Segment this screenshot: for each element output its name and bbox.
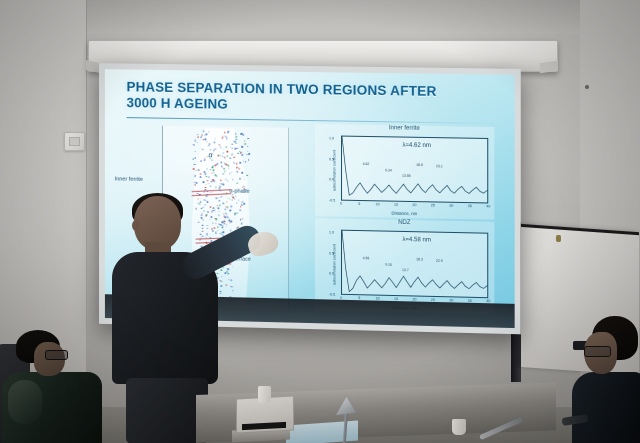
x-tick: 0 [340, 202, 342, 206]
slide-title: PHASE SEPARATION IN TWO REGIONS AFTER 30… [127, 79, 456, 116]
x-tick: 5 [358, 202, 360, 206]
plot-area: λ=4.58 nm [341, 230, 488, 299]
jacket-highlight [8, 380, 42, 424]
chart-inner-ferrite: Inner ferrite λ=4.62 nm autocorrelation … [315, 124, 494, 220]
title-divider [127, 117, 497, 124]
y-tick: -0.5 [329, 292, 335, 296]
chart-title: NDZ [315, 218, 494, 228]
alpha-region-label: α [208, 152, 212, 159]
screw-icon [585, 85, 589, 89]
attendee-right-jacket [572, 372, 640, 443]
y-tick: -0.5 [329, 198, 335, 202]
peak-annotation: 4.62 [363, 162, 370, 166]
x-tick: 15 [394, 203, 398, 207]
conference-room-photo: PHASE SEPARATION IN TWO REGIONS AFTER 30… [0, 0, 640, 443]
peak-annotation: 18.3 [416, 257, 423, 261]
y-tick: 1.0 [329, 230, 334, 234]
peak-annotation: 18.5 [416, 163, 423, 167]
light-switch-icon[interactable] [64, 132, 85, 151]
glasses-icon [45, 350, 68, 360]
y-tick: 0.5 [329, 251, 334, 255]
label-inner-ferrite: Inner ferrite [115, 176, 150, 183]
x-tick: 20 [412, 203, 416, 207]
attendee-left [0, 326, 110, 443]
x-tick: 10 [376, 202, 380, 206]
peak-annotation: 4.58 [363, 256, 370, 260]
paper-cup-secondary [452, 419, 466, 435]
y-tick: 0.0 [329, 272, 334, 276]
ceiling [0, 0, 640, 34]
attendee-right [570, 316, 640, 443]
peak-annotation: 13.86 [402, 174, 411, 178]
y-tick: 0.5 [329, 157, 334, 161]
y-tick: 1.0 [329, 136, 334, 140]
glasses-icon [584, 346, 611, 357]
peak-annotation: 13.7 [402, 268, 409, 272]
y-tick: 0.0 [329, 178, 334, 182]
paper-cup [258, 386, 271, 403]
chart-line-series [342, 231, 487, 297]
documents [286, 420, 358, 443]
peak-annotation: 9.16 [385, 263, 392, 267]
peak-annotation: 23.1 [436, 164, 443, 168]
x-tick: 35 [468, 204, 472, 208]
plot-area: λ=4.62 nm [341, 136, 488, 204]
x-tick: 25 [431, 203, 435, 207]
x-tick: 30 [449, 204, 453, 208]
whiteboard-knob-icon [556, 235, 561, 242]
x-tick: 40 [486, 204, 490, 208]
label-alpha-phase: α-phase [229, 189, 249, 196]
chart-line-series [342, 137, 487, 203]
x-axis-label: Distance, nm [315, 209, 494, 218]
peak-annotation: 22.9 [436, 259, 443, 263]
chart-title: Inner ferrite [315, 124, 494, 133]
presenter-ear [132, 220, 140, 231]
peak-annotation: 9.24 [385, 168, 392, 172]
